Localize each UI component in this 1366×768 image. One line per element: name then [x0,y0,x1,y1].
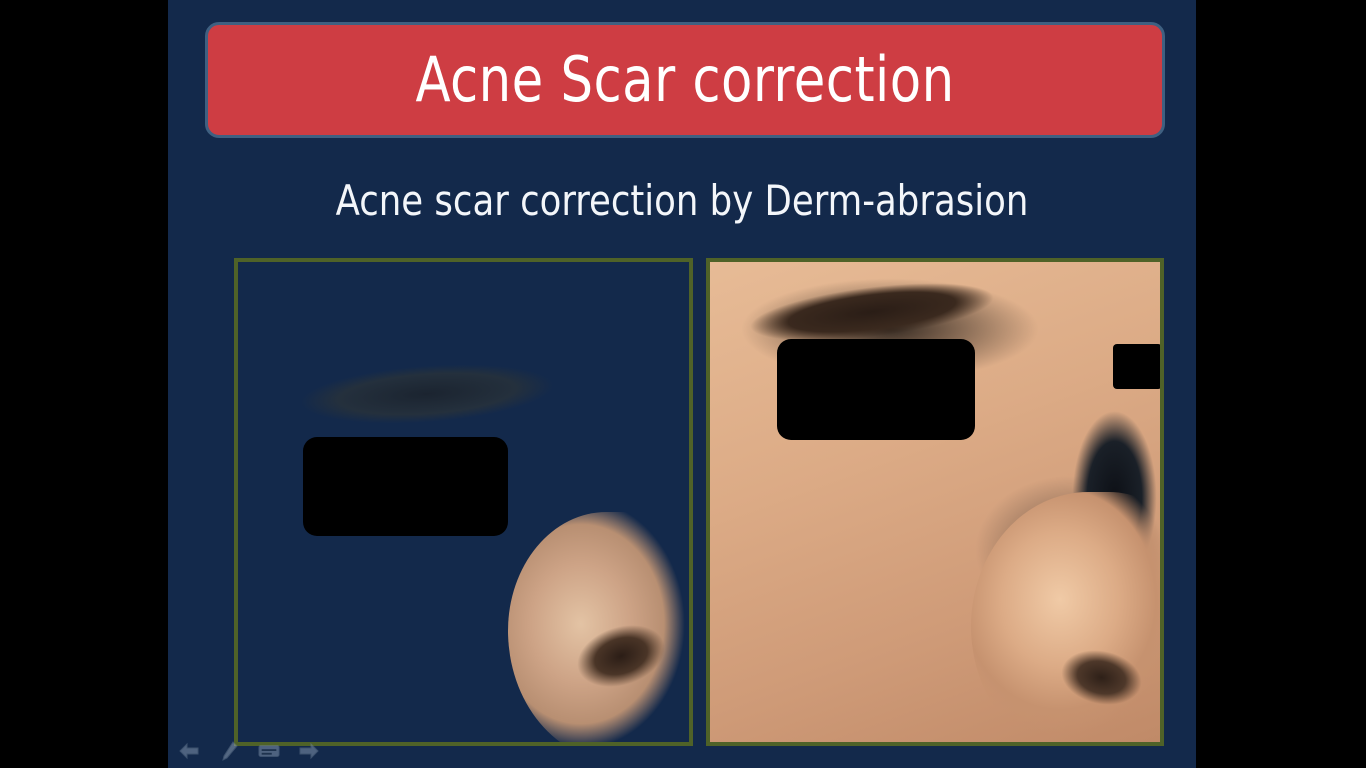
slide-subtitle: Acne scar correction by Derm-abrasion [199,180,1165,222]
arrow-right-icon [298,742,320,760]
title-banner: Acne Scar correction [205,22,1165,138]
nose-detail [508,512,692,746]
slide-menu-button[interactable] [258,740,280,762]
menu-icon [258,743,280,759]
pen-icon [220,741,238,761]
page-title: Acne Scar correction [415,49,954,111]
letterbox-right [1196,0,1366,768]
eye-redaction [777,339,975,440]
corner-redaction [1113,344,1163,390]
letterbox-left [0,0,168,768]
next-slide-button[interactable] [298,740,320,762]
photo-row [234,258,1164,746]
slideshow-nav-controls[interactable] [178,740,320,762]
slide-canvas: Acne Scar correction Acne scar correctio… [168,0,1196,768]
before-photo [234,258,693,746]
arrow-left-icon [178,742,200,760]
pen-tool-button[interactable] [218,740,240,762]
eye-redaction [303,437,508,535]
previous-slide-button[interactable] [178,740,200,762]
presentation-stage: Acne Scar correction Acne scar correctio… [0,0,1366,768]
after-photo [706,258,1165,746]
